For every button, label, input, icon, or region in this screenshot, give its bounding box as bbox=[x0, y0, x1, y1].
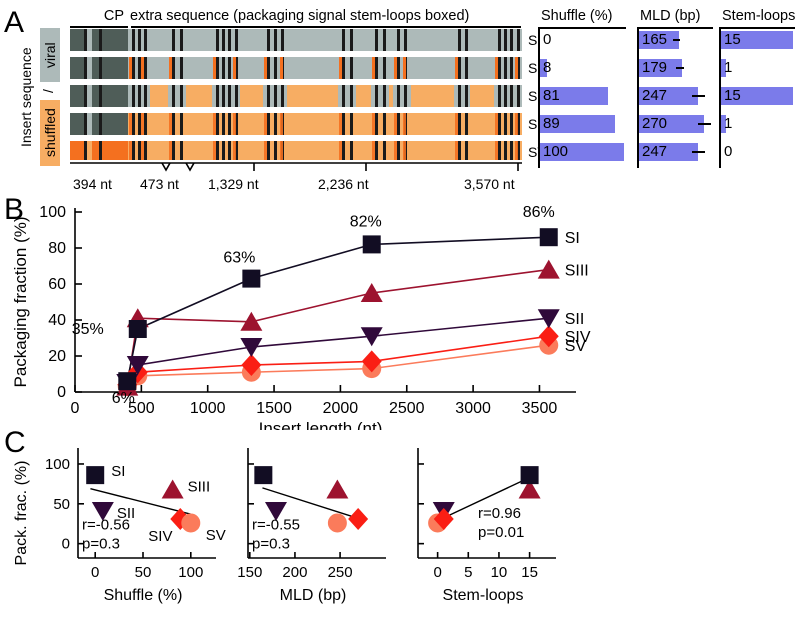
panel-c-charts: 050100050100Shuffle (%)Pack. frac. (%)SI… bbox=[0, 430, 797, 624]
svg-text:r=-0.55: r=-0.55 bbox=[252, 516, 300, 533]
svg-text:1000: 1000 bbox=[190, 400, 226, 417]
bar-value-label: 8 bbox=[543, 59, 551, 77]
svg-text:r=0.96: r=0.96 bbox=[478, 505, 521, 522]
bar-table-0: 088189100 bbox=[540, 29, 640, 169]
svg-text:p=0.3: p=0.3 bbox=[82, 535, 120, 552]
svg-text:SV: SV bbox=[206, 527, 226, 544]
svg-text:15: 15 bbox=[521, 564, 538, 581]
svg-text:6%: 6% bbox=[112, 390, 135, 407]
bar-table-title-1: MLD (bp) bbox=[640, 8, 700, 24]
svg-text:1500: 1500 bbox=[256, 400, 292, 417]
svg-text:82%: 82% bbox=[350, 213, 382, 230]
header-rule-extra bbox=[131, 26, 521, 28]
header-extra-sequence: extra sequence (packaging signal stem-lo… bbox=[130, 8, 469, 24]
svg-text:Stem-loops: Stem-loops bbox=[443, 587, 524, 604]
bar-table-1: 165179247270247 bbox=[639, 29, 729, 169]
svg-text:Packaging fraction (%): Packaging fraction (%) bbox=[11, 216, 30, 387]
svg-text:SI: SI bbox=[565, 230, 580, 247]
bar-value-label: 1 bbox=[724, 115, 732, 133]
svg-text:200: 200 bbox=[282, 564, 307, 581]
svg-text:50: 50 bbox=[53, 496, 70, 513]
svg-text:60: 60 bbox=[48, 276, 66, 293]
svg-text:Shuffle (%): Shuffle (%) bbox=[104, 587, 183, 604]
sequence-ruler-svg bbox=[66, 160, 526, 178]
svg-text:20: 20 bbox=[48, 348, 66, 365]
header-rule-cp bbox=[70, 26, 128, 28]
bar-value-label: 15 bbox=[724, 87, 741, 105]
svg-text:100: 100 bbox=[178, 564, 203, 581]
svg-text:r=-0.56: r=-0.56 bbox=[82, 516, 130, 533]
error-bar bbox=[698, 123, 711, 125]
error-bar bbox=[676, 67, 684, 69]
svg-text:SI: SI bbox=[111, 463, 125, 480]
bar-value-label: 81 bbox=[543, 87, 560, 105]
svg-text:100: 100 bbox=[39, 204, 66, 221]
svg-text:40: 40 bbox=[48, 312, 66, 329]
legend-viral: viral bbox=[40, 28, 60, 82]
svg-text:Insert length (nt): Insert length (nt) bbox=[259, 419, 383, 430]
svg-text:0: 0 bbox=[433, 564, 441, 581]
error-bar bbox=[692, 95, 705, 97]
svg-text:50: 50 bbox=[135, 564, 152, 581]
panel-b-svg: 0204060801000500100015002000250030003500… bbox=[0, 190, 797, 430]
bar-table-2: 1511510 bbox=[721, 29, 797, 169]
panel-b-chart: 0204060801000500100015002000250030003500… bbox=[0, 190, 797, 430]
bar-value-label: 247 bbox=[642, 143, 667, 161]
svg-text:SIII: SIII bbox=[188, 478, 211, 495]
svg-text:p=0.3: p=0.3 bbox=[252, 535, 290, 552]
svg-text:Pack. frac. (%): Pack. frac. (%) bbox=[13, 461, 30, 566]
panel-c-svg: 050100050100Shuffle (%)Pack. frac. (%)SI… bbox=[0, 430, 797, 624]
svg-text:5: 5 bbox=[464, 564, 472, 581]
legend-slash: / bbox=[40, 84, 56, 98]
svg-text:3500: 3500 bbox=[522, 400, 558, 417]
svg-text:80: 80 bbox=[48, 240, 66, 257]
svg-text:35%: 35% bbox=[72, 321, 104, 338]
bar-value-label: 247 bbox=[642, 87, 667, 105]
svg-text:0: 0 bbox=[62, 536, 70, 553]
bar-value-label: 0 bbox=[724, 143, 732, 161]
bar-table-title-0: Shuffle (%) bbox=[541, 8, 612, 24]
svg-text:10: 10 bbox=[491, 564, 508, 581]
svg-text:0: 0 bbox=[71, 400, 80, 417]
panel-a-side-label: Insert sequence bbox=[18, 32, 34, 162]
svg-text:SV: SV bbox=[565, 338, 587, 355]
bar-value-label: 1 bbox=[724, 59, 732, 77]
svg-text:0: 0 bbox=[91, 564, 99, 581]
bar-value-label: 270 bbox=[642, 115, 667, 133]
error-bar bbox=[692, 151, 705, 153]
sequence-map-svg bbox=[70, 29, 522, 160]
bar-value-label: 165 bbox=[642, 31, 667, 49]
svg-text:100: 100 bbox=[45, 456, 70, 473]
bar-value-label: 15 bbox=[724, 31, 741, 49]
bar-value-label: 0 bbox=[543, 31, 551, 49]
bar-value-label: 100 bbox=[543, 143, 568, 161]
svg-text:250: 250 bbox=[328, 564, 353, 581]
svg-text:MLD (bp): MLD (bp) bbox=[280, 587, 347, 604]
bar-table-title-2: Stem-loops bbox=[722, 8, 795, 24]
svg-text:63%: 63% bbox=[223, 250, 255, 267]
legend-shuffled: shuffled bbox=[40, 100, 60, 166]
svg-text:86%: 86% bbox=[523, 204, 555, 221]
svg-text:p=0.01: p=0.01 bbox=[478, 524, 524, 541]
svg-text:SIII: SIII bbox=[565, 263, 589, 280]
svg-text:150: 150 bbox=[237, 564, 262, 581]
svg-text:2500: 2500 bbox=[389, 400, 425, 417]
error-bar bbox=[673, 39, 681, 41]
bar-value-label: 179 bbox=[642, 59, 667, 77]
sequence-map bbox=[70, 29, 522, 160]
bar-value-label: 89 bbox=[543, 115, 560, 133]
sequence-ruler bbox=[66, 160, 526, 178]
svg-text:0: 0 bbox=[57, 384, 66, 401]
svg-text:3000: 3000 bbox=[455, 400, 491, 417]
svg-text:SII: SII bbox=[565, 311, 585, 328]
svg-text:2000: 2000 bbox=[323, 400, 359, 417]
svg-text:SIV: SIV bbox=[148, 528, 172, 545]
